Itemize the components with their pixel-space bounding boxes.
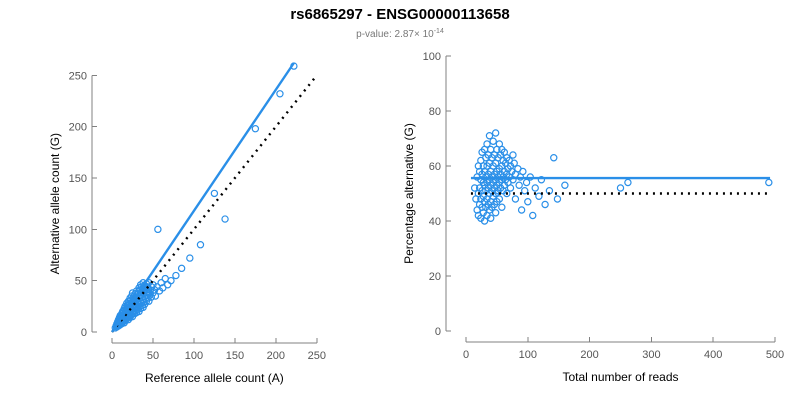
left-y-tick-label: 150 <box>69 173 87 185</box>
right-y-tick-label: 60 <box>429 161 441 173</box>
right-y-tick-label: 20 <box>429 271 441 283</box>
page-title: rs6865297 - ENSG00000113658 <box>290 6 509 23</box>
right-y-tick-label: 80 <box>429 106 441 118</box>
figure-canvas: rs6865297 - ENSG00000113658 p-value: 2.8… <box>0 0 800 400</box>
right-x-tick-label: 500 <box>766 349 784 361</box>
left-x-tick-label: 0 <box>109 350 115 362</box>
right-y-tick-label: 100 <box>423 51 441 63</box>
left-x-axis-title: Reference allele count (A) <box>145 371 284 385</box>
right-y-tick-label: 40 <box>429 216 441 228</box>
right-x-tick-label: 100 <box>519 349 537 361</box>
p-value-text: p-value: 2.87× 10 <box>356 29 434 40</box>
left-y-tick-label: 100 <box>69 224 87 236</box>
right-y-axis-title: Percentage alternative (G) <box>402 123 416 264</box>
left-x-tick-label: 100 <box>185 350 203 362</box>
left-x-tick-label: 150 <box>226 350 244 362</box>
left-y-axis-title: Alternative allele count (G) <box>48 133 62 274</box>
left-x-tick-label: 200 <box>267 350 285 362</box>
left-y-tick-label: 0 <box>81 327 87 339</box>
right-x-tick-label: 300 <box>642 349 660 361</box>
left-x-tick-label: 50 <box>147 350 159 362</box>
right-x-tick-label: 0 <box>463 349 469 361</box>
p-value-subtitle: p-value: 2.87× 10-14 <box>356 28 444 40</box>
left-y-tick-label: 250 <box>69 70 87 82</box>
left-y-tick-label: 200 <box>69 122 87 134</box>
right-x-tick-label: 200 <box>580 349 598 361</box>
left-y-tick-label: 50 <box>75 276 87 288</box>
left-x-tick-label: 250 <box>308 350 326 362</box>
right-x-axis-title: Total number of reads <box>562 370 678 384</box>
p-value-exponent: -14 <box>434 28 444 35</box>
right-x-tick-label: 400 <box>704 349 722 361</box>
figure-background <box>0 0 800 400</box>
right-y-tick-label: 0 <box>435 326 441 338</box>
